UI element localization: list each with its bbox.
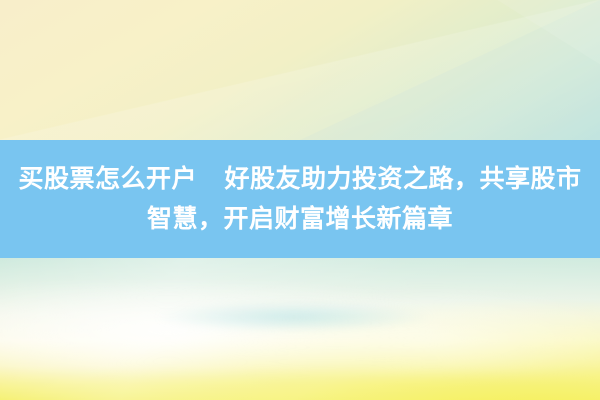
headline-text: 买股票怎么开户 好股友助力投资之路，共享股市智慧，开启财富增长新篇章: [14, 159, 586, 239]
promo-image: 买股票怎么开户 好股友助力投资之路，共享股市智慧，开启财富增长新篇章: [0, 0, 600, 400]
background-teal-wisp: [108, 300, 480, 334]
headline-banner: 买股票怎么开户 好股友助力投资之路，共享股市智慧，开启财富增长新篇章: [0, 140, 600, 258]
